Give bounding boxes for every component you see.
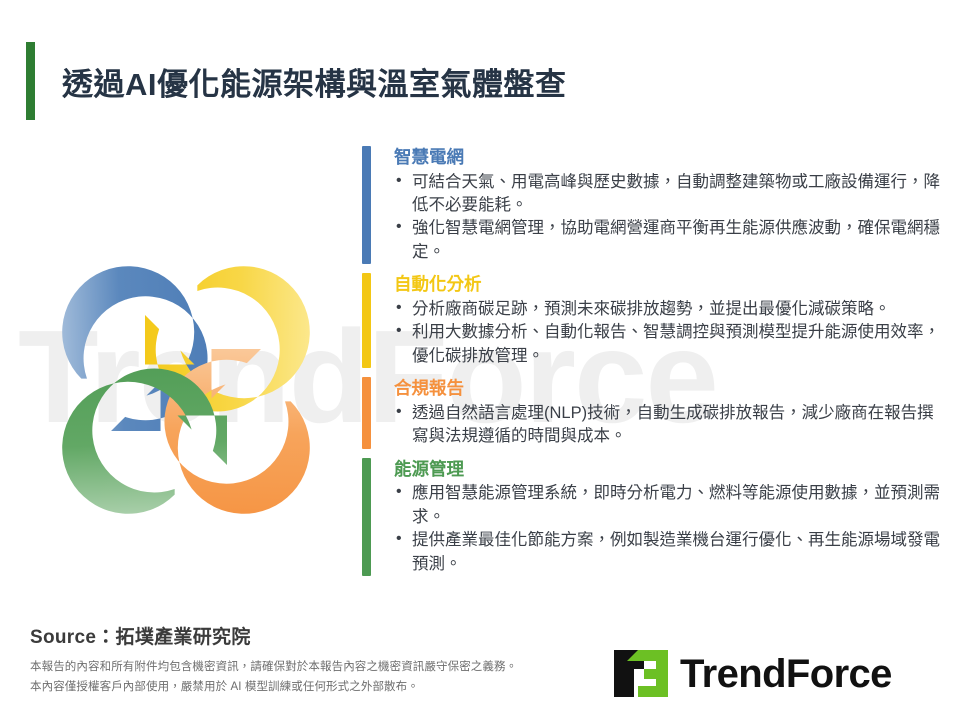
section-accent-bar-compliance-report bbox=[362, 377, 371, 448]
section-automated-analysis: 自動化分析 分析廠商碳足跡，預測未來碳排放趨勢，並提出最優化減碳策略。 利用大數… bbox=[362, 273, 948, 368]
cycle-quadrant-smart-grid: 智慧電網 bbox=[24, 236, 241, 455]
trendforce-logo: TrendForce bbox=[614, 650, 892, 697]
bullet-list-automated-analysis: 分析廠商碳足跡，預測未來碳排放趨勢，並提出最優化減碳策略。 利用大數據分析、自動… bbox=[394, 298, 948, 368]
bullet-item: 強化智慧電網管理，協助電網營運商平衡再生能源供應波動，確保電網穩定。 bbox=[394, 217, 948, 264]
source-label: Source：拓墣產業研究院 bbox=[30, 622, 517, 649]
bullet-item: 分析廠商碳足跡，預測未來碳排放趨勢，並提出最優化減碳策略。 bbox=[394, 298, 948, 321]
bullet-item: 利用大數據分析、自動化報告、智慧調控與預測模型提升能源使用效率，優化碳排放管理。 bbox=[394, 321, 948, 368]
page-title-block: 透過AI優化能源架構與溫室氣體盤查 bbox=[26, 42, 567, 120]
section-smart-grid: 智慧電網 可結合天氣、用電高峰與歷史數據，自動調整建築物或工廠設備運行，降低不必… bbox=[362, 146, 948, 264]
cycle-quadrant-compliance-report: 合規報告 bbox=[132, 324, 349, 542]
bullet-list-compliance-report: 透過自然語言處理(NLP)技術，自動生成碳排放報告，減少廠商在報告撰寫與法規遵循… bbox=[394, 402, 948, 449]
disclaimer-line-2: 本內容僅授權客戶內部使用，嚴禁用於 AI 模型訓練或任何形式之外部散布。 bbox=[30, 678, 517, 698]
cycle-quadrant-automated-analysis: 自動化分析 bbox=[120, 228, 345, 445]
section-accent-bar-automated-analysis bbox=[362, 273, 371, 368]
content-sections: 智慧電網 可結合天氣、用電高峰與歷史數據，自動調整建築物或工廠設備運行，降低不必… bbox=[362, 146, 948, 585]
section-heading-automated-analysis: 自動化分析 bbox=[394, 273, 948, 297]
bullet-item: 透過自然語言處理(NLP)技術，自動生成碳排放報告，減少廠商在報告撰寫與法規遵循… bbox=[394, 402, 948, 449]
bullet-list-smart-grid: 可結合天氣、用電高峰與歷史數據，自動調整建築物或工廠設備運行，降低不必要能耗。 … bbox=[394, 171, 948, 265]
section-energy-management: 能源管理 應用智慧能源管理系統，即時分析電力、燃料等能源使用數據，並預測需求。 … bbox=[362, 458, 948, 576]
title-accent-bar bbox=[26, 42, 35, 120]
section-heading-smart-grid: 智慧電網 bbox=[394, 146, 948, 170]
bullet-item: 提供產業最佳化節能方案，例如製造業機台運行優化、再生能源場域發電預測。 bbox=[394, 529, 948, 576]
disclaimer-line-1: 本報告的內容和所有附件均包含機密資訊，請確保對於本報告內容之機密資訊嚴守保密之義… bbox=[30, 658, 517, 678]
section-accent-bar-smart-grid bbox=[362, 146, 371, 264]
section-compliance-report: 合規報告 透過自然語言處理(NLP)技術，自動生成碳排放報告，減少廠商在報告撰寫… bbox=[362, 377, 948, 448]
footer: Source：拓墣產業研究院 本報告的內容和所有附件均包含機密資訊，請確保對於本… bbox=[30, 622, 517, 698]
bullet-list-energy-management: 應用智慧能源管理系統，即時分析電力、燃料等能源使用數據，並預測需求。 提供產業最… bbox=[394, 482, 948, 576]
page-title: 透過AI優化能源架構與溫室氣體盤查 bbox=[62, 59, 567, 104]
section-heading-energy-management: 能源管理 bbox=[394, 458, 948, 482]
trendforce-logo-text: TrendForce bbox=[680, 654, 892, 694]
trendforce-logo-mark bbox=[614, 650, 668, 697]
section-heading-compliance-report: 合規報告 bbox=[394, 377, 948, 401]
bullet-item: 應用智慧能源管理系統，即時分析電力、燃料等能源使用數據，並預測需求。 bbox=[394, 482, 948, 529]
cycle-quadrant-energy-management: 能源管理 bbox=[30, 336, 251, 553]
section-accent-bar-energy-management bbox=[362, 458, 371, 576]
bullet-item: 可結合天氣、用電高峰與歷史數據，自動調整建築物或工廠設備運行，降低不必要能耗。 bbox=[394, 171, 948, 218]
four-stage-cycle-diagram: 智慧電網 自動化分析 合規報告 能源管理 bbox=[18, 222, 354, 558]
